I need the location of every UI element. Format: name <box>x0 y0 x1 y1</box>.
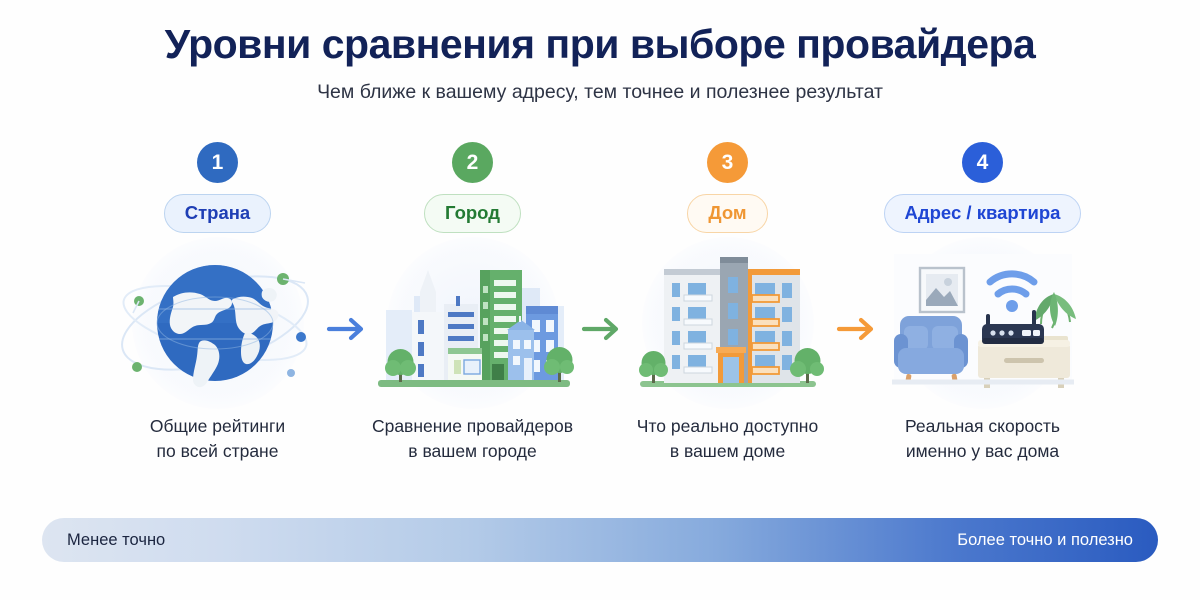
wifi-dot-icon <box>1006 300 1018 312</box>
step-caption-city: Сравнение провайдеров в вашем городе <box>372 414 573 464</box>
step-badge-number-4: 4 <box>977 152 989 173</box>
step-pill-house[interactable]: Дом <box>687 194 767 233</box>
step-country[interactable]: 1 Страна <box>90 142 345 464</box>
caption-line-1: Реальная скорость <box>905 414 1060 439</box>
step-badge-4: 4 <box>962 142 1003 183</box>
step-badge-number-1: 1 <box>212 152 224 173</box>
caption-line-1: Общие рейтинги <box>150 414 285 439</box>
tree-left <box>639 351 668 383</box>
apartment-building-icon <box>628 247 828 399</box>
precision-scale-bar: Менее точно Более точно и полезно <box>42 518 1158 562</box>
header: Уровни сравнения при выборе провайдера Ч… <box>0 0 1200 104</box>
step-badge-3: 3 <box>707 142 748 183</box>
illustration-house <box>620 248 835 398</box>
step-pill-city[interactable]: Город <box>424 194 521 233</box>
page-title: Уровни сравнения при выборе провайдера <box>0 22 1200 68</box>
scale-left-label: Менее точно <box>67 531 165 550</box>
living-room-router-icon <box>878 248 1088 398</box>
illustration-country <box>110 248 325 398</box>
page-subtitle: Чем ближе к вашему адресу, тем точнее и … <box>0 81 1200 104</box>
globe-icon <box>115 249 320 397</box>
caption-line-2: в вашем городе <box>372 439 573 464</box>
step-city[interactable]: 2 Город <box>345 142 600 464</box>
illustration-city <box>365 248 580 398</box>
step-badge-number-2: 2 <box>467 152 479 173</box>
step-badge-1: 1 <box>197 142 238 183</box>
caption-line-2: в вашем доме <box>637 439 818 464</box>
step-pill-address[interactable]: Адрес / квартира <box>884 194 1082 233</box>
infographic-root: Уровни сравнения при выборе провайдера Ч… <box>0 0 1200 600</box>
steps-row: 1 Страна <box>0 142 1200 492</box>
step-address[interactable]: 4 Адрес / квартира <box>855 142 1110 464</box>
city-skyline-icon <box>368 248 578 398</box>
caption-line-1: Сравнение провайдеров <box>372 414 573 439</box>
step-caption-house: Что реально доступно в вашем доме <box>637 414 818 464</box>
step-caption-country: Общие рейтинги по всей стране <box>150 414 285 464</box>
picture-frame-icon <box>920 268 964 312</box>
illustration-address <box>875 248 1090 398</box>
step-caption-address: Реальная скорость именно у вас дома <box>905 414 1060 464</box>
step-badge-2: 2 <box>452 142 493 183</box>
step-house[interactable]: 3 Дом <box>600 142 855 464</box>
step-pill-country[interactable]: Страна <box>164 194 271 233</box>
caption-line-1: Что реально доступно <box>637 414 818 439</box>
step-badge-number-3: 3 <box>722 152 734 173</box>
caption-line-2: по всей стране <box>150 439 285 464</box>
caption-line-2: именно у вас дома <box>905 439 1060 464</box>
scale-right-label: Более точно и полезно <box>957 531 1133 550</box>
